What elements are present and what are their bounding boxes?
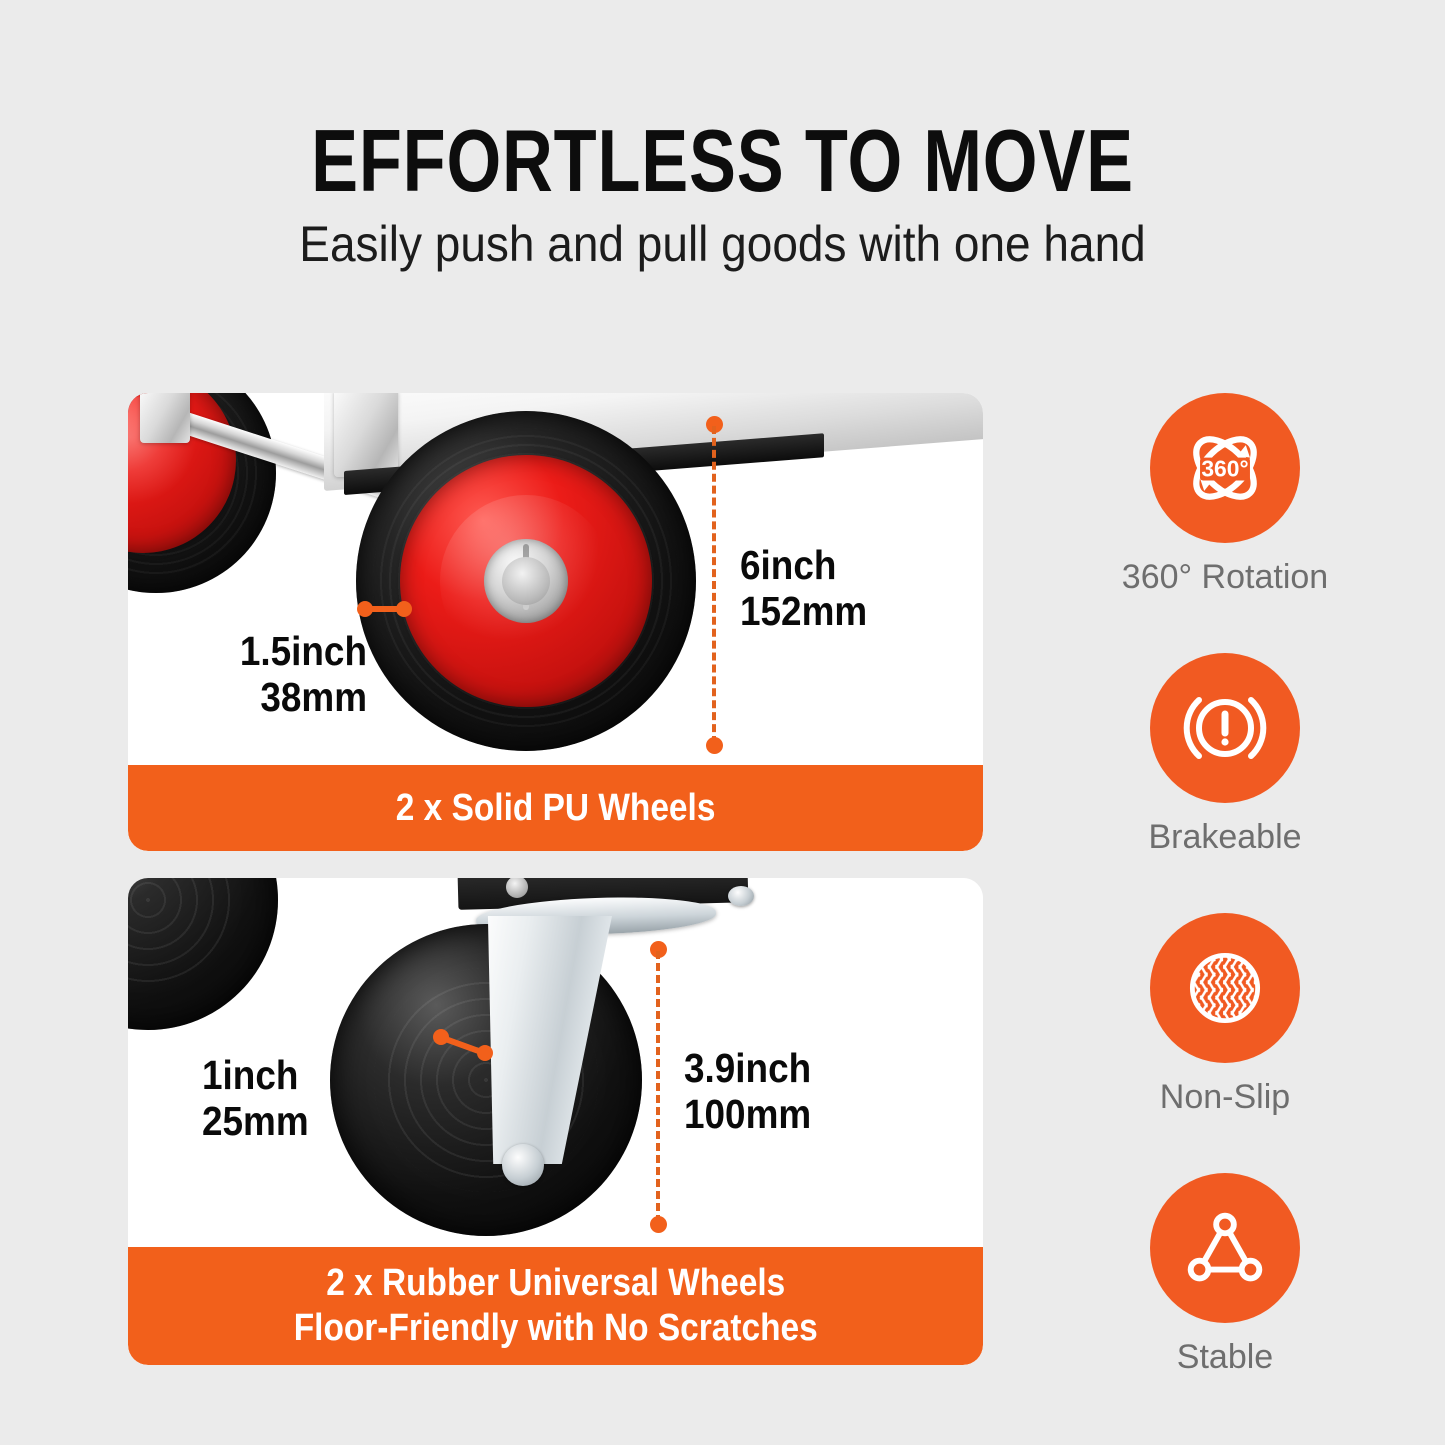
callout-dot-caster-width-end [477,1045,493,1061]
callout-label-tire-width: 1.5inch 38mm [232,629,367,721]
deck-bracket [334,393,398,477]
feature-nonslip-label: Non-Slip [1060,1079,1390,1116]
panel-2-caption-bar: 2 x Rubber Universal Wheels Floor-Friend… [128,1247,983,1365]
page-subtitle: Easily push and pull goods with one hand [58,218,1387,271]
callout-dot-tire-width-left [357,601,373,617]
secondary-caster-wheel [128,878,278,1030]
panel-solid-pu-wheels: 1.5inch 38mm 6inch 152mm 2 x Solid PU Wh… [128,393,983,851]
pu-hub-core [502,557,550,605]
panel-1-caption-bar: 2 x Solid PU Wheels [128,765,983,851]
feature-rotation-label: 360° Rotation [1060,559,1390,596]
page-title: EFFORTLESS TO MOVE [145,118,1301,204]
feature-stable: Stable [1060,1173,1390,1376]
plate-rivet [728,886,754,906]
360-rotation-icon: 360° [1173,416,1277,520]
product-photo-pu-wheel: 1.5inch 38mm 6inch 152mm [128,393,983,765]
feature-nonslip-badge [1150,913,1300,1063]
infographic-canvas: EFFORTLESS TO MOVE Easily push and pull … [0,0,1445,1445]
feature-rotation: 360° 360° Rotation [1060,393,1390,596]
callout-label-caster-width: 1inch 25mm [202,1053,400,1145]
feature-brakeable: Brakeable [1060,653,1390,856]
callout-dot-diameter-bottom [706,737,723,754]
feature-nonslip: Non-Slip [1060,913,1390,1116]
callout-label-caster-diameter: 3.9inch 100mm [684,1046,811,1138]
header: EFFORTLESS TO MOVE Easily push and pull … [0,0,1445,271]
callout-line-caster-diameter [656,951,660,1223]
callout-line-diameter [712,426,716,744]
callout-dot-caster-width-start [433,1029,449,1045]
triangle-nodes-icon [1176,1199,1274,1297]
product-photo-caster-wheel: 1inch 25mm 3.9inch 100mm [128,878,983,1247]
panel-rubber-universal-wheels: 1inch 25mm 3.9inch 100mm 2 x Rubber Univ… [128,878,983,1365]
panel-2-caption-text: 2 x Rubber Universal Wheels Floor-Friend… [294,1261,818,1351]
diamond-plate-icon [1177,940,1273,1036]
callout-dot-tire-width-right [396,601,412,617]
feature-rotation-badge: 360° [1150,393,1300,543]
brake-disc-icon [1175,678,1275,778]
caster-axle-rivet [502,1144,544,1186]
feature-stable-badge [1150,1173,1300,1323]
callout-dot-caster-diameter-bottom [650,1216,667,1233]
axle-bracket [140,393,190,443]
feature-brakeable-badge [1150,653,1300,803]
svg-text:360°: 360° [1201,455,1248,481]
feature-stable-label: Stable [1060,1339,1390,1376]
callout-label-wheel-diameter: 6inch 152mm [740,543,867,635]
feature-brakeable-label: Brakeable [1060,819,1390,856]
panel-1-caption-text: 2 x Solid PU Wheels [396,787,716,830]
